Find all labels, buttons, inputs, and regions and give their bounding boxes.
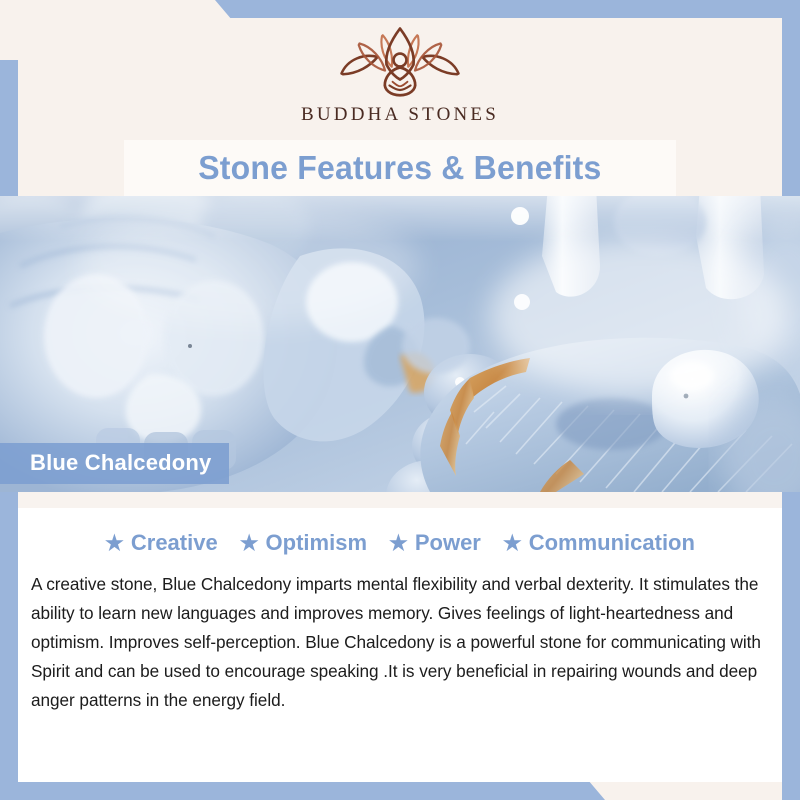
- star-icon: ★: [105, 533, 124, 554]
- keyword-label: Creative: [131, 530, 218, 556]
- hero-photo: Blue Chalcedony: [0, 196, 800, 492]
- keyword-item-power: ★ Power: [389, 530, 481, 556]
- decor-band-bottom: [0, 780, 800, 800]
- description-panel: ★ Creative ★ Optimism ★ Power ★ Communic…: [18, 492, 782, 782]
- keyword-label: Optimism: [266, 530, 367, 556]
- keyword-list: ★ Creative ★ Optimism ★ Power ★ Communic…: [18, 530, 782, 556]
- title-banner: Stone Features & Benefits: [124, 140, 676, 196]
- keyword-label: Power: [415, 530, 481, 556]
- star-icon: ★: [389, 533, 408, 554]
- keyword-item-creative: ★ Creative: [105, 530, 218, 556]
- page-title: Stone Features & Benefits: [198, 149, 601, 187]
- infographic-page: BUDDHA STONES Stone Features & Benefits: [0, 0, 800, 800]
- keyword-item-optimism: ★ Optimism: [240, 530, 367, 556]
- brand-name: BUDDHA STONES: [301, 104, 499, 126]
- star-icon: ★: [503, 533, 522, 554]
- keyword-item-communication: ★ Communication: [503, 530, 695, 556]
- content-card: BUDDHA STONES Stone Features & Benefits: [18, 18, 782, 782]
- star-icon: ★: [240, 533, 259, 554]
- lotus-meditation-icon: [324, 24, 476, 102]
- stone-description: A creative stone, Blue Chalcedony impart…: [31, 570, 773, 715]
- brand-header: BUDDHA STONES: [18, 18, 782, 140]
- decor-band-top: [0, 0, 800, 20]
- photo-caption: Blue Chalcedony: [0, 443, 229, 484]
- panel-top-divider: [18, 492, 782, 508]
- keyword-label: Communication: [529, 530, 695, 556]
